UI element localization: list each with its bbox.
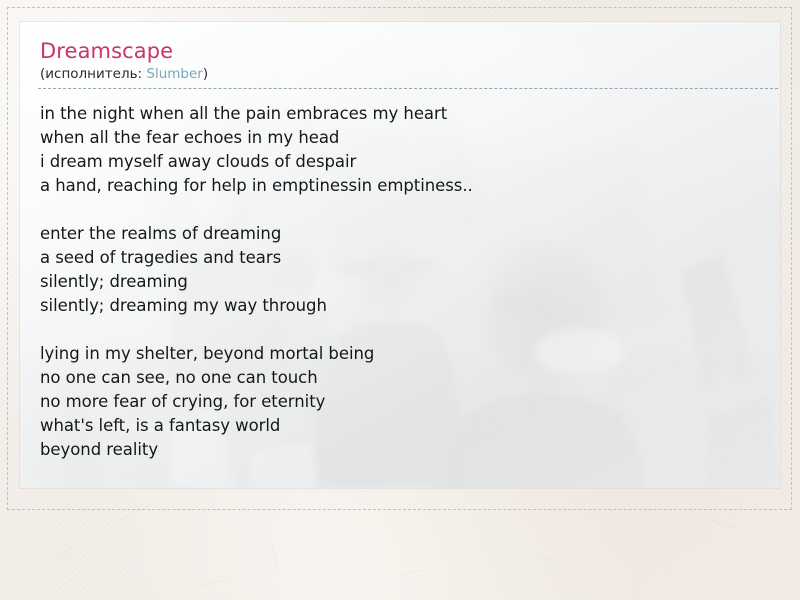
lyrics-content-panel: Dreamscape (исполнитель: Slumber) in the… xyxy=(20,22,780,488)
artist-suffix-label: ) xyxy=(203,66,208,82)
lyric-line: enter the realms of dreaming xyxy=(40,222,760,246)
artist-prefix-label: (исполнитель: xyxy=(40,66,146,82)
lyric-line: when all the fear echoes in my head xyxy=(40,126,760,150)
lyric-line: silently; dreaming xyxy=(40,270,760,294)
lyric-stanza: enter the realms of dreaming a seed of t… xyxy=(40,222,760,318)
artist-link[interactable]: Slumber xyxy=(146,66,202,82)
lyric-line: no more fear of crying, for eternity xyxy=(40,390,760,414)
lyric-line: i dream myself away clouds of despair xyxy=(40,150,760,174)
lyric-line: a hand, reaching for help in emptinessin… xyxy=(40,174,760,198)
lyric-line: in the night when all the pain embraces … xyxy=(40,102,760,126)
lyric-line: beyond reality xyxy=(40,438,760,462)
page-title: Dreamscape xyxy=(38,39,778,64)
lyric-stanza: lying in my shelter, beyond mortal being… xyxy=(40,342,760,462)
lyric-line: no one can see, no one can touch xyxy=(40,366,760,390)
lyrics-body: in the night when all the pain embraces … xyxy=(38,102,760,462)
artist-line: (исполнитель: Slumber) xyxy=(38,65,778,85)
lyric-line: silently; dreaming my way through xyxy=(40,294,760,318)
lyric-stanza: in the night when all the pain embraces … xyxy=(40,102,760,198)
lyric-line: a seed of tragedies and tears xyxy=(40,246,760,270)
song-header: Dreamscape (исполнитель: Slumber) xyxy=(38,39,778,89)
lyric-line: what's left, is a fantasy world xyxy=(40,414,760,438)
lyric-line: lying in my shelter, beyond mortal being xyxy=(40,342,760,366)
